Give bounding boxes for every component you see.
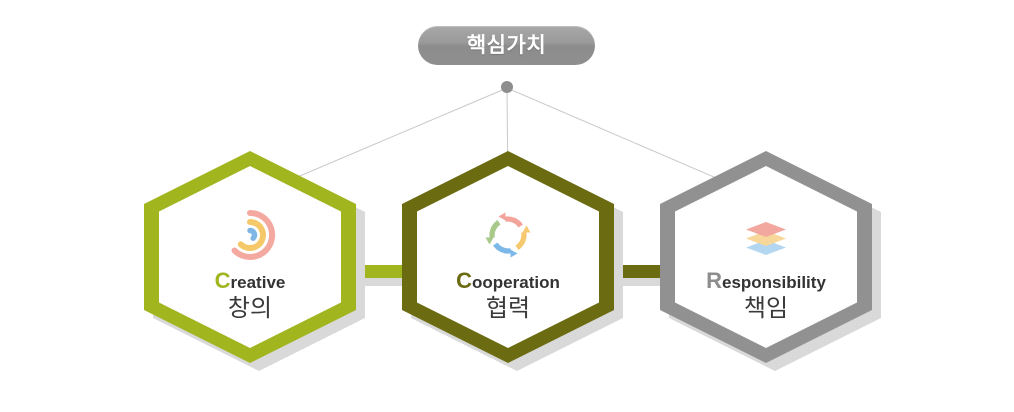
hex-label-rest: ooperation [472, 273, 560, 292]
hex-label-rest: esponsibility [722, 273, 826, 292]
hex-content: Creative 창의 [144, 151, 356, 363]
hex-label-rest: reative [231, 273, 286, 292]
layer-top [746, 222, 786, 237]
hub-dot [501, 81, 513, 93]
hex-content: Cooperation 협력 [402, 151, 614, 363]
hex-content: Responsibility 책임 [660, 151, 872, 363]
hex-label-initial: C [456, 268, 472, 293]
swirl-arcs-icon [224, 209, 276, 261]
hex-node-creative[interactable]: Creative 창의 [144, 151, 356, 363]
core-values-badge-label: 핵심가치 [467, 35, 546, 56]
hex-label-ko: 협력 [486, 294, 530, 324]
hex-label-initial: R [706, 268, 722, 293]
core-values-diagram: 핵심가치 [0, 0, 1014, 412]
hex-label-ko: 창의 [228, 294, 272, 324]
core-values-badge: 핵심가치 [418, 26, 595, 65]
hex-label-en: Cooperation [456, 269, 560, 292]
hex-node-responsibility[interactable]: Responsibility 책임 [660, 151, 872, 363]
hex-label-en: Creative [215, 269, 286, 292]
cycle-arrows-icon [482, 209, 534, 261]
stacked-layers-icon [740, 209, 792, 261]
hex-label-ko: 책임 [744, 294, 788, 324]
hex-label-initial: C [215, 268, 231, 293]
hex-node-cooperation[interactable]: Cooperation 협력 [402, 151, 614, 363]
hex-label-en: Responsibility [706, 269, 826, 292]
